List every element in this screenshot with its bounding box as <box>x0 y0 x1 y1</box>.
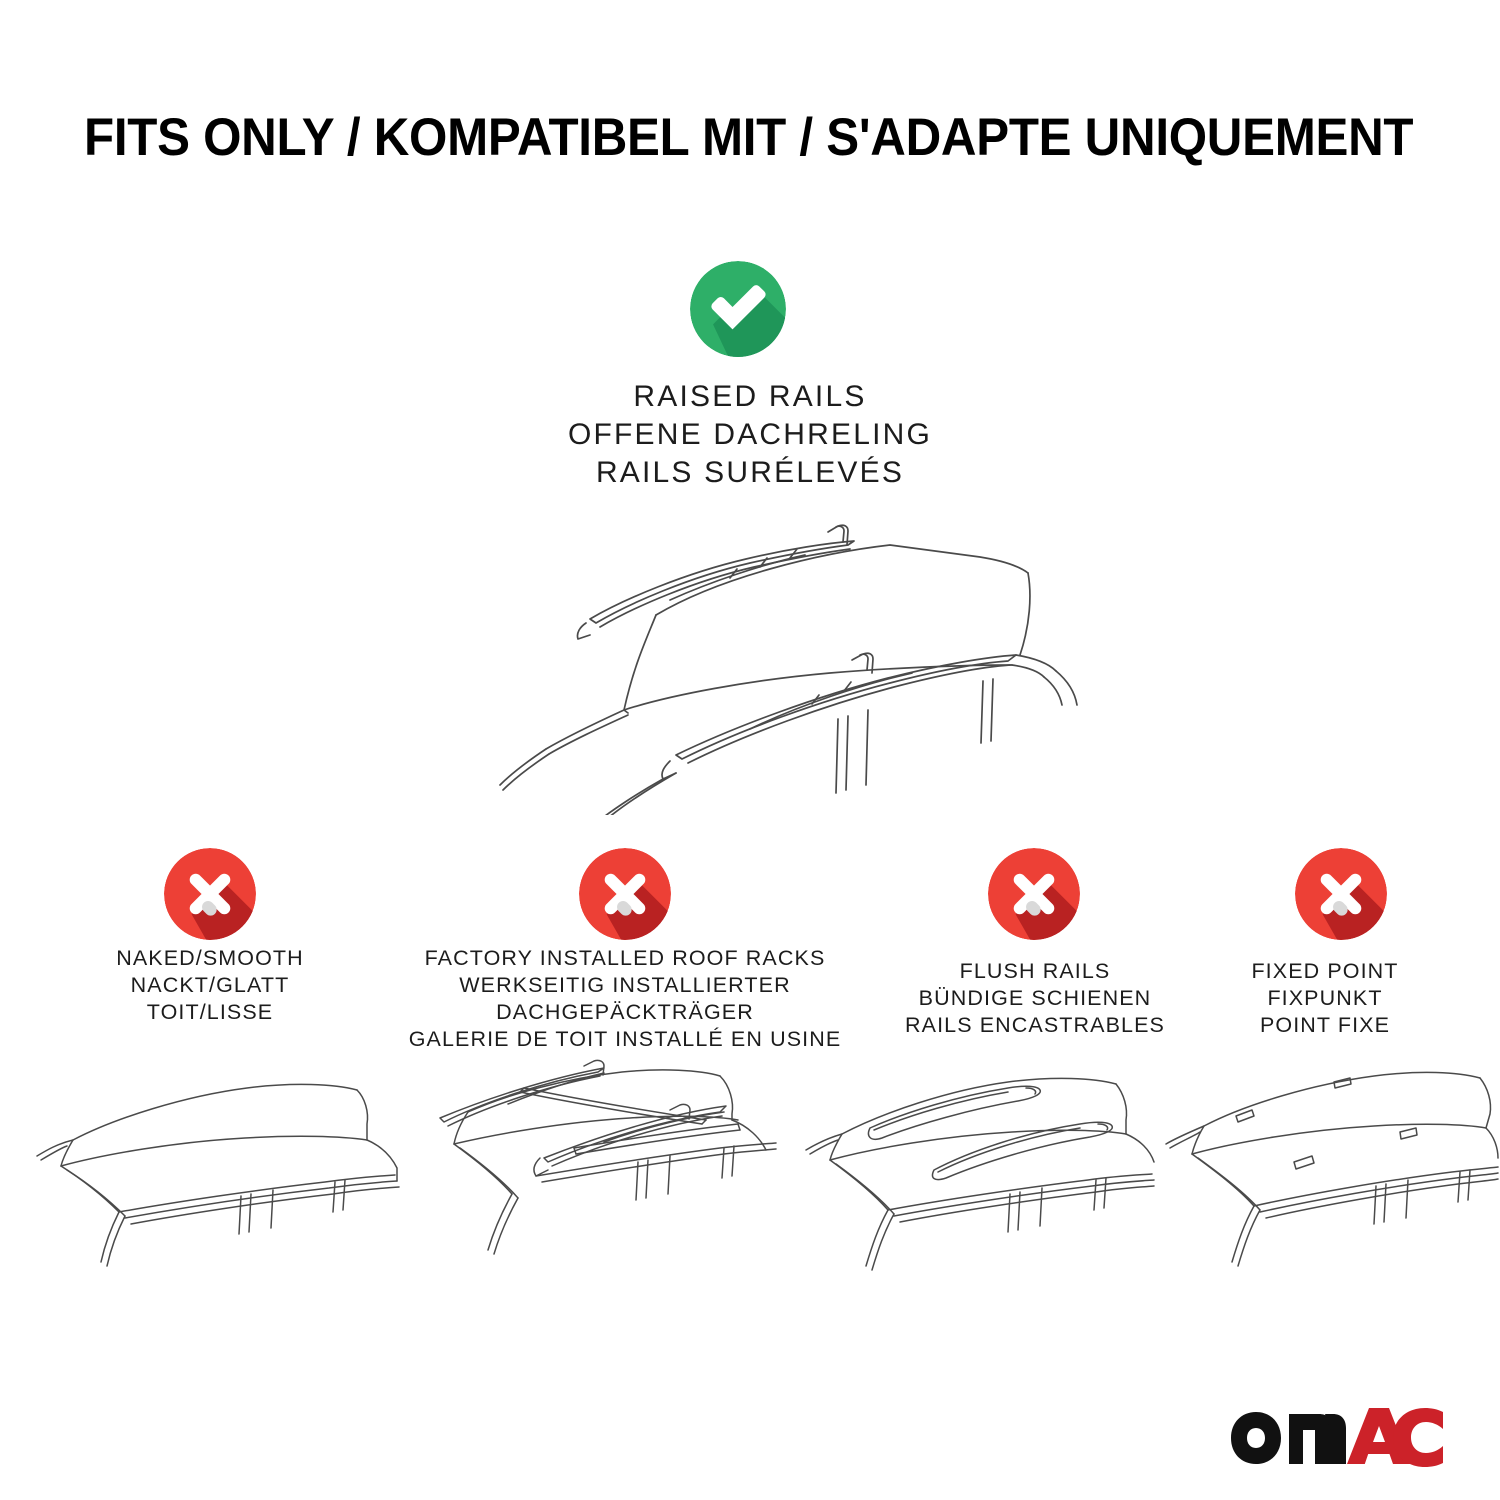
cross-circle-icon <box>1295 848 1387 940</box>
car-roof-naked-smooth-illustration <box>35 1062 405 1292</box>
car-roof-raised-rails-illustration <box>420 505 1085 815</box>
incompatible-1-label-line1: NAKED/SMOOTH <box>25 945 395 972</box>
check-circle-icon <box>690 261 786 357</box>
incompatible-caption-4: FIXED POINT FIXPUNKT POINT FIXE <box>1160 958 1490 1039</box>
incompatible-4-label-line1: FIXED POINT <box>1160 958 1490 985</box>
incompatible-2-label-line1: FACTORY INSTALLED ROOF RACKS <box>395 945 855 972</box>
compatible-label-line1: RAISED RAILS <box>450 378 1050 416</box>
car-roof-flush-rails-illustration <box>786 1060 1156 1292</box>
cross-circle-icon <box>988 848 1080 940</box>
incompatible-caption-2: FACTORY INSTALLED ROOF RACKS WERKSEITIG … <box>395 945 855 1053</box>
incompatible-1-label-line2: NACKT/GLATT <box>25 972 395 999</box>
car-roof-factory-roof-racks-illustration <box>408 1058 778 1293</box>
incompatible-2-label-line4: GALERIE DE TOIT INSTALLÉ EN USINE <box>395 1026 855 1053</box>
compatible-label-line2: OFFENE DACHRELING <box>450 416 1050 454</box>
incompatible-1-label-line3: TOIT/LISSE <box>25 999 395 1026</box>
compatible-caption: RAISED RAILS OFFENE DACHRELING RAILS SUR… <box>450 378 1050 492</box>
compatible-label-line3: RAILS SURÉLEVÉS <box>450 454 1050 492</box>
cross-circle-icon <box>164 848 256 940</box>
compatibility-infographic: FITS ONLY / KOMPATIBEL MIT / S'ADAPTE UN… <box>0 0 1500 1500</box>
incompatible-2-label-line3: DACHGEPÄCKTRÄGER <box>395 999 855 1026</box>
incompatible-caption-1: NAKED/SMOOTH NACKT/GLATT TOIT/LISSE <box>25 945 395 1026</box>
page-title: FITS ONLY / KOMPATIBEL MIT / S'ADAPTE UN… <box>84 108 1330 168</box>
incompatible-4-label-line3: POINT FIXE <box>1160 1012 1490 1039</box>
cross-circle-icon <box>579 848 671 940</box>
omac-logo <box>1229 1398 1445 1468</box>
incompatible-4-label-line2: FIXPUNKT <box>1160 985 1490 1012</box>
incompatible-2-label-line2: WERKSEITIG INSTALLIERTER <box>395 972 855 999</box>
car-roof-fixed-point-illustration <box>1148 1060 1500 1292</box>
